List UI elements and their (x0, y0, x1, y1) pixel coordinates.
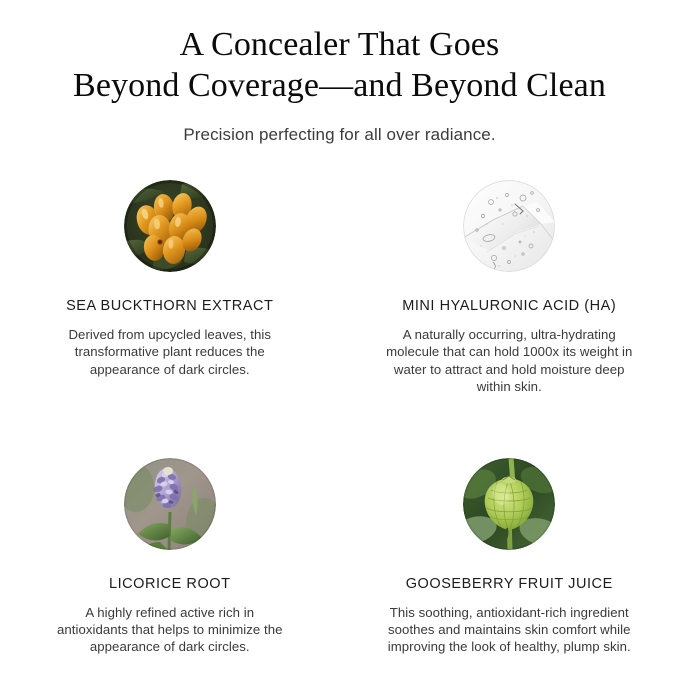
gooseberry-husk-fruit-photo (463, 458, 555, 550)
page-title: A Concealer That Goes Beyond Coverage—an… (30, 24, 650, 106)
licorice-root-flower-photo (124, 458, 216, 550)
ingredient-description: This soothing, antioxidant-rich ingredie… (383, 604, 635, 656)
header-section: A Concealer That Goes Beyond Coverage—an… (0, 0, 679, 146)
ingredients-grid: SEA BUCKTHORN EXTRACT Derived from upcyc… (0, 180, 679, 656)
ingredient-title: LICORICE ROOT (109, 575, 231, 593)
headline-line-1: A Concealer That Goes (30, 24, 650, 65)
ingredient-card-sea-buckthorn: SEA BUCKTHORN EXTRACT Derived from upcyc… (0, 180, 340, 396)
ingredient-card-gooseberry: GOOSEBERRY FRUIT JUICE This soothing, an… (340, 458, 679, 656)
ingredient-thumbnail-wrap (463, 180, 555, 272)
ingredient-description: A highly refined active rich in antioxid… (51, 604, 289, 656)
ingredient-card-hyaluronic-acid: MINI HYALURONIC ACID (HA) A naturally oc… (340, 180, 679, 396)
ingredient-thumbnail-wrap (463, 458, 555, 550)
ingredient-title: GOOSEBERRY FRUIT JUICE (406, 575, 613, 593)
ingredient-title: MINI HYALURONIC ACID (HA) (402, 297, 616, 315)
ingredient-description: A naturally occurring, ultra-hydrating m… (383, 326, 635, 396)
headline-line-2: Beyond Coverage—and Beyond Clean (30, 65, 650, 106)
ingredient-description: Derived from upcycled leaves, this trans… (51, 326, 289, 378)
ingredient-benefits-page: A Concealer That Goes Beyond Coverage—an… (0, 0, 679, 679)
page-subtitle: Precision perfecting for all over radian… (0, 124, 679, 146)
sea-buckthorn-berries-photo (124, 180, 216, 272)
ingredient-card-licorice-root: LICORICE ROOT A highly refined active ri… (0, 458, 340, 656)
ingredient-title: SEA BUCKTHORN EXTRACT (66, 297, 273, 315)
ingredient-thumbnail-wrap (124, 458, 216, 550)
ingredient-thumbnail-wrap (124, 180, 216, 272)
hyaluronic-acid-gel-texture-photo (463, 180, 555, 272)
